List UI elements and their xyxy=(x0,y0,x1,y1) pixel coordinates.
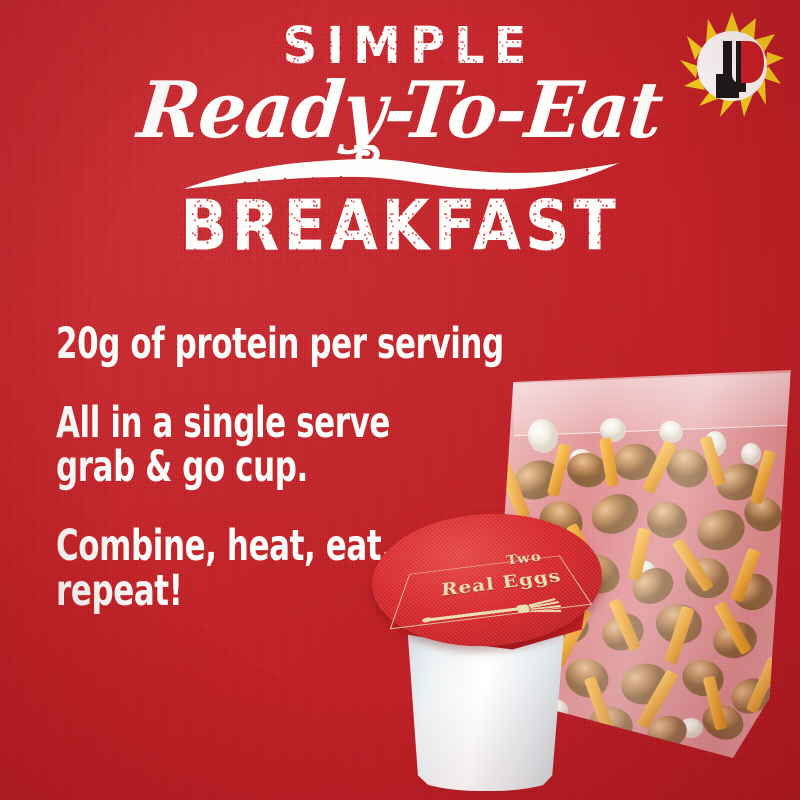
breakfast-cup: Two Real Eggs xyxy=(372,500,602,800)
ad-canvas: SIMPLE Ready-To-Eat BREAKFAST xyxy=(0,0,800,800)
fork-icon xyxy=(415,596,569,632)
cup-lid-border xyxy=(390,556,593,630)
jimmy-dean-sunburst-logo-icon: JD xyxy=(678,12,786,120)
headline-eyebrow-text: SIMPLE xyxy=(274,21,536,72)
headline-main: BREAKFAST xyxy=(0,192,800,261)
cup-lid-artwork: Two Real Eggs xyxy=(394,537,581,640)
headline-main-text: BREAKFAST xyxy=(180,192,620,261)
product-photo: Two Real Eggs xyxy=(330,340,800,800)
cup-lid-line-1: Two xyxy=(394,540,616,582)
cup-lid-line-2: Real Eggs xyxy=(397,562,594,606)
